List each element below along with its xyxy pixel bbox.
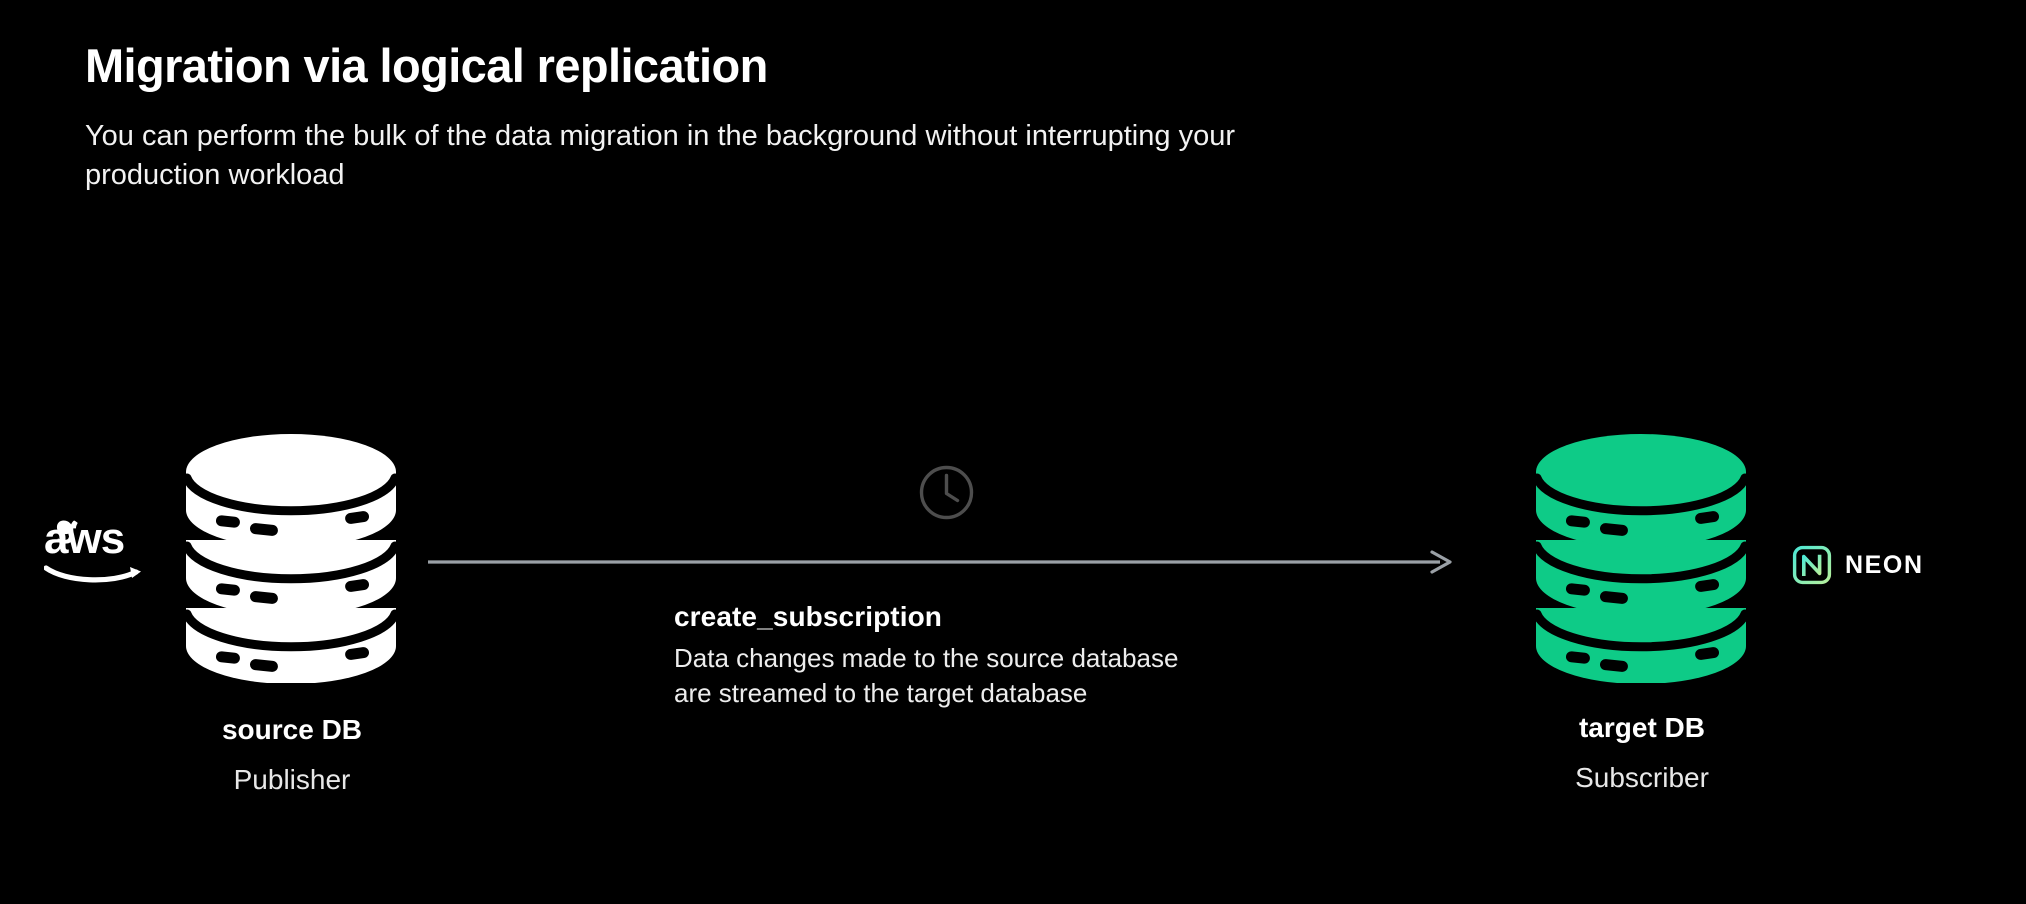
annotation-body: Data changes made to the source database… [674, 641, 1374, 710]
target-db-caption: target DB Subscriber [1442, 714, 1842, 792]
annotation-line-1: Data changes made to the source database [674, 641, 1374, 676]
target-db-role: Subscriber [1442, 764, 1842, 792]
neon-mark-icon [1792, 545, 1832, 585]
neon-wordmark: NEON [1845, 552, 1980, 578]
clock-icon [918, 464, 975, 521]
slide-root: Migration via logical replication You ca… [0, 0, 2026, 904]
slide-header: Migration via logical replication You ca… [85, 40, 1585, 196]
target-db-label: target DB [1442, 714, 1842, 742]
subtitle-line-1: You can perform the bulk of the data mig… [85, 120, 1017, 152]
neon-logo: NEON [1792, 543, 1980, 587]
target-database-icon [1532, 428, 1750, 683]
annotation-line-2: are streamed to the target database [674, 676, 1374, 711]
svg-text:aws: aws [44, 514, 124, 563]
source-database-icon [182, 428, 400, 683]
annotation-title: create_subscription [674, 600, 1374, 633]
page-title: Migration via logical replication [85, 40, 1585, 93]
source-db-role: Publisher [92, 766, 492, 794]
flow-annotation: create_subscription Data changes made to… [674, 600, 1374, 710]
flow-arrow-icon [428, 546, 1458, 578]
aws-logo-icon: aws [44, 512, 166, 586]
source-db-label: source DB [92, 716, 492, 744]
page-subtitle: You can perform the bulk of the data mig… [85, 117, 1305, 196]
source-db-caption: source DB Publisher [92, 716, 492, 794]
neon-wordmark-text: NEON [1845, 552, 1924, 578]
